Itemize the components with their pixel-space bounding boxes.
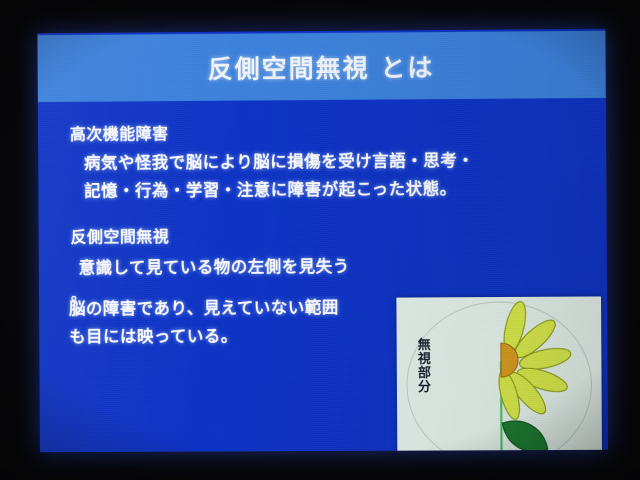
presentation-slide: 反側空間無視 とは 高次機能障害 病気や怪我で脳により脳に損傷を受け言語・思考・… bbox=[37, 29, 608, 452]
section-line: 病気や怪我で脳により脳に損傷を受け言語・思考・ bbox=[84, 147, 474, 174]
leaf-icon bbox=[502, 421, 547, 452]
slide-title-band: 反側空間無視 とは bbox=[37, 31, 605, 102]
section-line: も目には映っている。 bbox=[69, 322, 339, 347]
section-neglect-explanation: 脳の障害であり、見えていない範囲 も目には映っている。 bbox=[69, 294, 339, 347]
section-line: 脳の障害であり、見えていない範囲 bbox=[69, 294, 339, 319]
projected-slide-photo: 反側空間無視 とは 高次機能障害 病気や怪我で脳により脳に損傷を受け言語・思考・… bbox=[0, 0, 640, 480]
slide-title: 反側空間無視 とは bbox=[208, 48, 435, 86]
section-higher-brain-dysfunction: 高次機能障害 病気や怪我で脳により脳に損傷を受け言語・思考・ 記憶・行為・学習・… bbox=[70, 118, 475, 202]
section-line: 意識して見ている物の左側を見失う bbox=[79, 253, 350, 279]
neglect-area-label: 無視部分 bbox=[411, 337, 429, 393]
section-unilateral-spatial-neglect: 反側空間無視 意識して見ている物の左側を見失う bbox=[70, 222, 349, 279]
slide-body: 高次機能障害 病気や怪我で脳により脳に損傷を受け言語・思考・ 記憶・行為・学習・… bbox=[38, 98, 608, 452]
neglect-illustration-panel: 無視部分 bbox=[396, 296, 602, 452]
section-line: 記憶・行為・学習・注意に障害が起こった状態。 bbox=[84, 175, 474, 202]
section-heading: 高次機能障害 bbox=[70, 118, 474, 145]
section-heading: 反側空間無視 bbox=[70, 222, 349, 248]
